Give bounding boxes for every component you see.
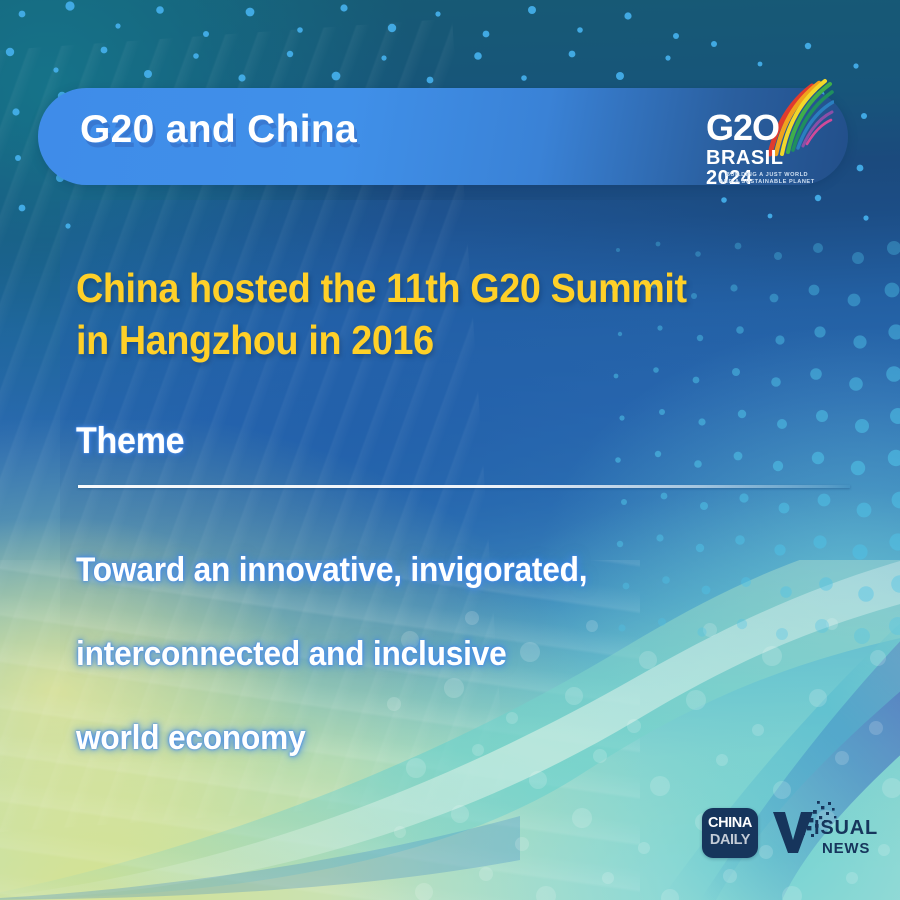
g20-tagline-line2: AND A SUSTAINABLE PLANET: [707, 179, 827, 186]
visual-news-wordmark: ISUAL: [814, 818, 878, 838]
g20-wordmark: G2O: [706, 110, 779, 146]
china-daily-logo: CHINA DAILY: [702, 808, 758, 858]
visual-news-logo: ISUAL NEWS: [772, 800, 878, 862]
theme-line-1: Toward an innovative, invigorated,: [76, 528, 783, 612]
page-title: G20 and China: [80, 108, 357, 152]
theme-divider: [78, 485, 850, 488]
g20-tagline-line1: BUILDING A JUST WORLD: [707, 172, 827, 179]
china-daily-line2: DAILY: [702, 833, 758, 848]
visual-news-subtitle: NEWS: [822, 841, 870, 856]
headline: China hosted the 11th G20 Summit in Hang…: [76, 262, 720, 366]
theme-body: Toward an innovative, invigorated, inter…: [76, 528, 783, 780]
g20-tagline: BUILDING A JUST WORLD AND A SUSTAINABLE …: [707, 172, 827, 187]
g20-brasil-logo: G2O BRASIL 2024 BUILDING A JUST WORLD AN…: [700, 82, 830, 194]
theme-line-2: interconnected and inclusive: [76, 612, 783, 696]
infographic-poster: G20 and China G2O BRASIL 2024 BUILDING A…: [0, 0, 900, 900]
theme-line-3: world economy: [76, 696, 783, 780]
china-daily-line1: CHINA: [702, 816, 758, 831]
theme-label: Theme: [76, 418, 184, 464]
